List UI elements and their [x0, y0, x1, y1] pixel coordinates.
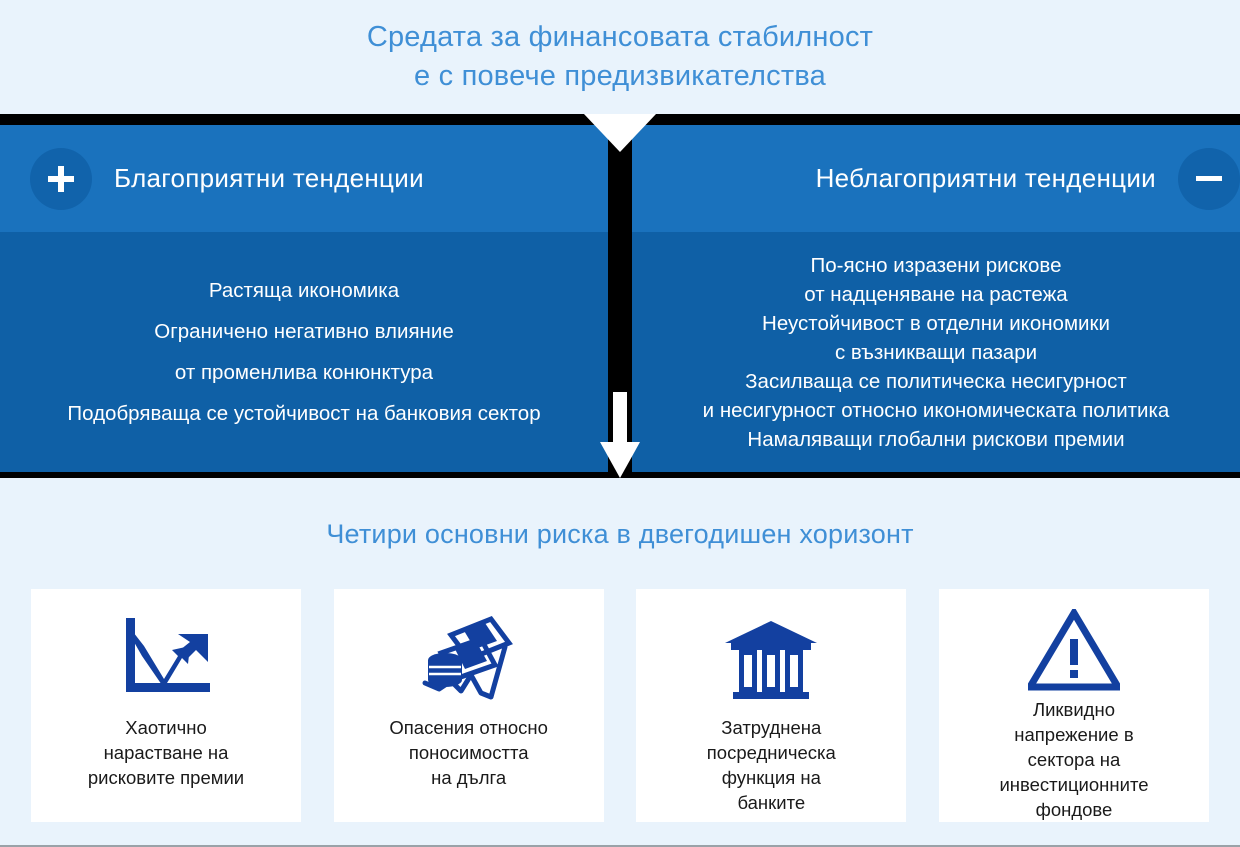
unfavorable-line: Неустойчивост в отделни икономики [762, 311, 1110, 336]
plus-icon [30, 148, 92, 210]
favorable-line: Растяща икономика [209, 278, 399, 303]
arrow-down-icon [600, 392, 640, 478]
favorable-panel-body: Растяща икономика Ограничено негативно в… [0, 232, 608, 472]
unfavorable-panel-title: Неблагоприятни тенденции [816, 163, 1156, 194]
bank-building-icon [725, 607, 817, 711]
risk-card-label: Ликвидно напрежение в сектора на инвести… [999, 697, 1148, 822]
risk-card[interactable]: Хаотично нарастване на рисковите премии [31, 589, 301, 822]
trends-panels: Благоприятни тенденции Растяща икономика… [0, 114, 1240, 478]
banknotes-coins-chart-icon [419, 607, 519, 711]
minus-icon [1178, 148, 1240, 210]
risk-card-label: Затруднена посредническа функция на банк… [707, 715, 836, 815]
risk-card-label: Опасения относно поносимостта на дълга [389, 715, 548, 790]
risk-card-label: Хаотично нарастване на рисковите премии [88, 715, 244, 790]
unfavorable-line: По-ясно изразени рискове [811, 253, 1062, 278]
risk-card[interactable]: Опасения относно поносимостта на дълга [334, 589, 604, 822]
unfavorable-line: Намаляващи глобални рискови премии [747, 427, 1124, 452]
unfavorable-line: и несигурност относно икономическата пол… [703, 398, 1170, 423]
unfavorable-line: от надценяване на растежа [804, 282, 1067, 307]
unfavorable-trends-panel: Неблагоприятни тенденции По-ясно изразен… [632, 125, 1240, 472]
risk-card[interactable]: Затруднена посредническа функция на банк… [636, 589, 906, 822]
risk-cards-row: Хаотично нарастване на рисковите премии [31, 589, 1209, 822]
unfavorable-line: Засилваща се политическа несигурност [745, 369, 1127, 394]
page-title: Средата за финансовата стабилност е с по… [0, 18, 1240, 96]
arrow-stem [613, 392, 627, 448]
warning-triangle-icon [1028, 607, 1120, 693]
unfavorable-panel-body: По-ясно изразени рискове от надценяване … [632, 232, 1240, 472]
minus-glyph [1196, 176, 1222, 181]
unfavorable-line: с възникващи пазари [835, 340, 1037, 365]
favorable-line: Ограничено негативно влияние [154, 319, 453, 344]
risks-section-title: Четири основни риска в двегодишен хоризо… [0, 519, 1240, 550]
plus-glyph [48, 166, 74, 192]
arrow-head [600, 442, 640, 478]
favorable-panel-header: Благоприятни тенденции [0, 125, 608, 232]
favorable-line: Подобряваща се устойчивост на банковия с… [67, 401, 540, 426]
infographic-page: Средата за финансовата стабилност е с по… [0, 0, 1240, 847]
favorable-line: от променлива конюнктура [175, 360, 433, 385]
unfavorable-panel-header: Неблагоприятни тенденции [632, 125, 1240, 232]
favorable-trends-panel: Благоприятни тенденции Растяща икономика… [0, 125, 608, 472]
favorable-panel-title: Благоприятни тенденции [114, 163, 424, 194]
risk-card[interactable]: Ликвидно напрежение в сектора на инвести… [939, 589, 1209, 822]
rising-chart-arrow-icon [118, 607, 214, 711]
